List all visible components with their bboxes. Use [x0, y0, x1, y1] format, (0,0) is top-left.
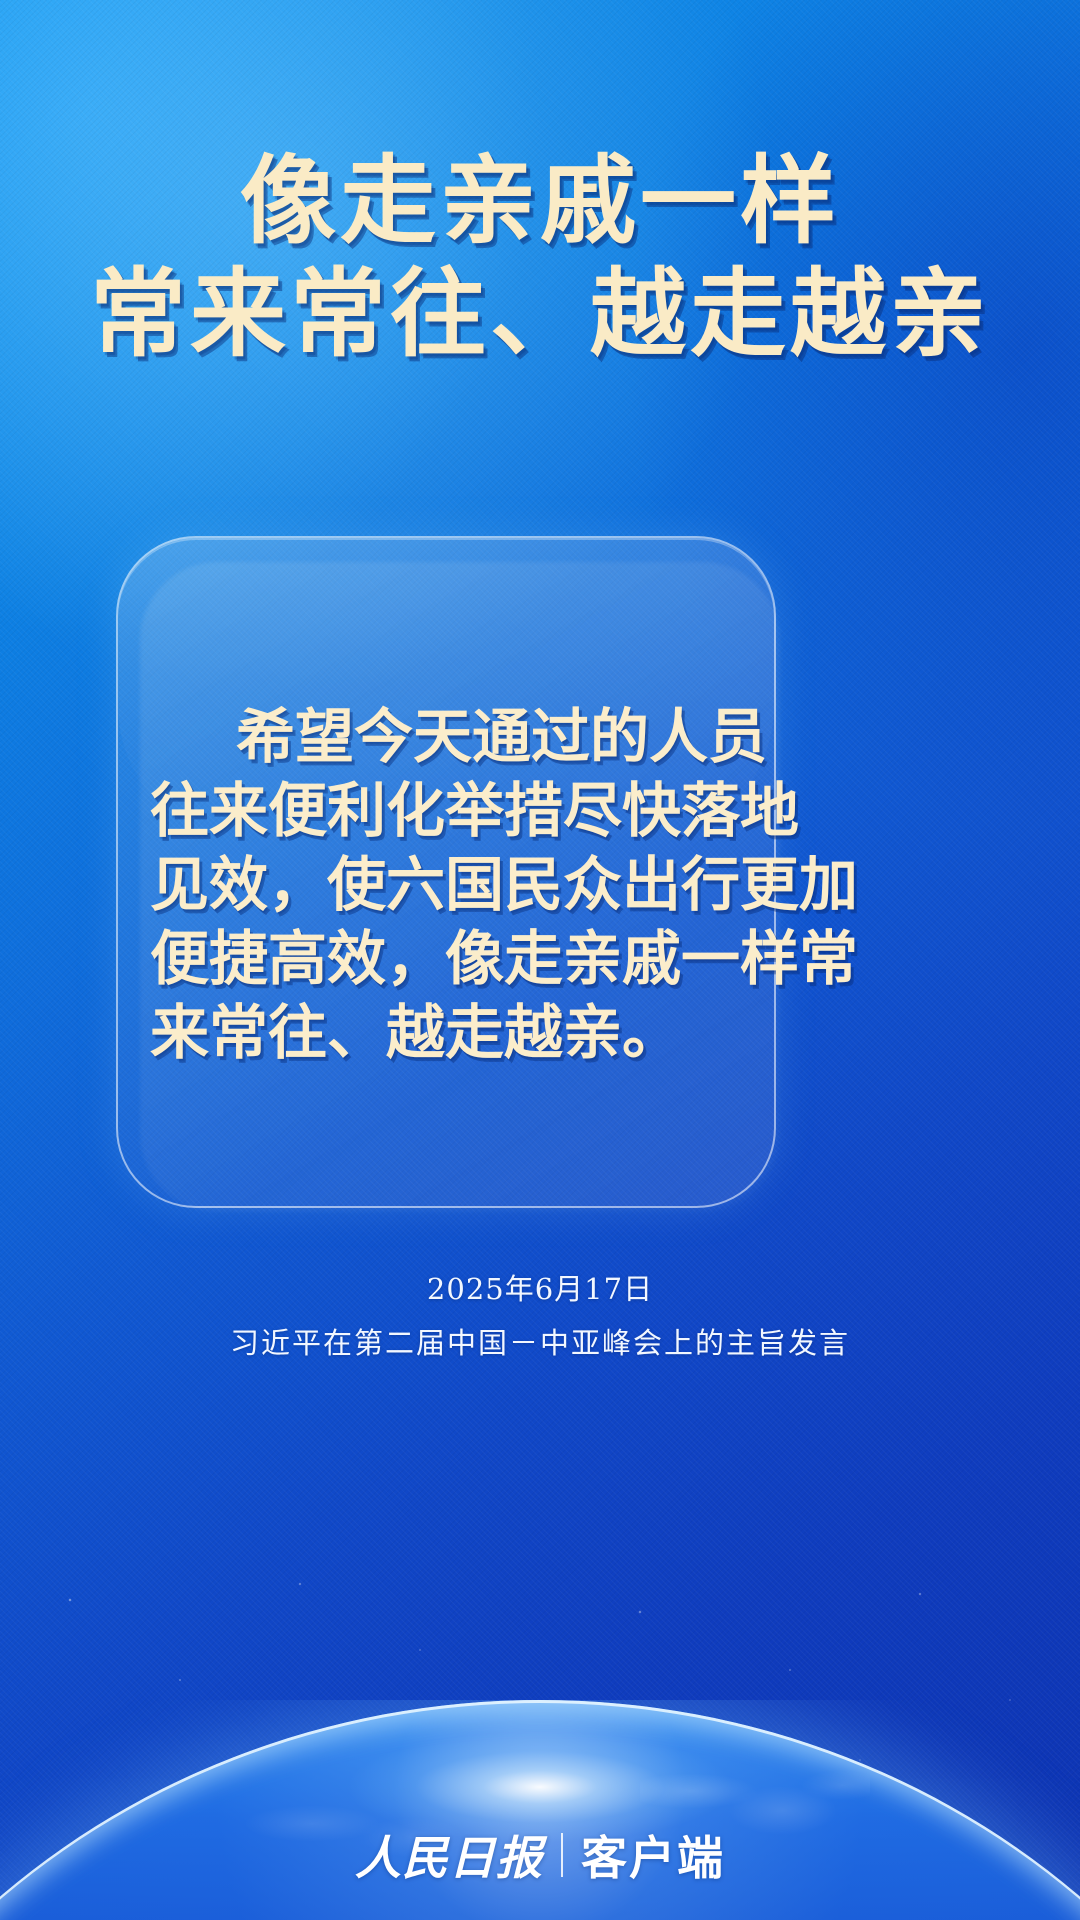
quote-line-4: 便捷高效，像走亲戚一样常 [150, 922, 750, 996]
quote-text-block: 希望今天通过的人员 往来便利化举措尽快落地 见效，使六国民众出行更加 便捷高效，… [150, 700, 750, 1070]
publisher-logo: 人民日报 客户端 [0, 1822, 1080, 1888]
caption-block: 2025年6月17日 习近平在第二届中国－中亚峰会上的主旨发言 [0, 1266, 1080, 1362]
logo-divider-icon [561, 1833, 563, 1877]
logo-brand-name: 人民日报 [355, 1822, 543, 1888]
quote-line-1: 希望今天通过的人员 [150, 700, 750, 774]
title-line-2: 常来常往、越走越亲 [0, 265, 1080, 364]
caption-date: 2025年6月17日 [0, 1266, 1080, 1308]
page-title: 像走亲戚一样 常来常往、越走越亲 [0, 152, 1080, 364]
title-line-1: 像走亲戚一样 [0, 152, 1080, 251]
poster-canvas: 像走亲戚一样 常来常往、越走越亲 希望今天通过的人员 往来便利化举措尽快落地 见… [0, 0, 1080, 1920]
quote-line-2: 往来便利化举措尽快落地 [150, 774, 750, 848]
quote-line-5: 来常往、越走越亲。 [150, 996, 750, 1070]
logo-product-name: 客户端 [581, 1822, 725, 1888]
quote-line-3: 见效，使六国民众出行更加 [150, 848, 750, 922]
caption-attribution: 习近平在第二届中国－中亚峰会上的主旨发言 [0, 1320, 1080, 1362]
